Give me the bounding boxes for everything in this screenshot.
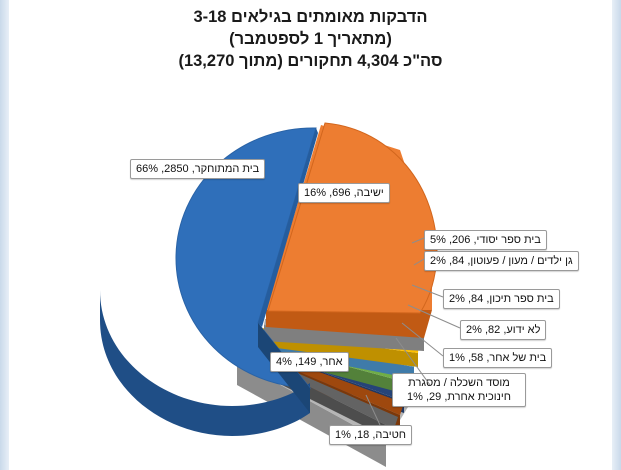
slice-label-yeshiva: ישיבה, 696, 16% bbox=[298, 183, 390, 203]
chart-title: הדבקות מאומתים בגילאים 3-18 (מתאריך 1 לס… bbox=[0, 6, 621, 72]
slice-label-institution: מוסד השכלה / מסגרת חינוכית אחרת, 29, 1% bbox=[392, 373, 526, 407]
chart-title-line-2: (מתאריך 1 לספטמבר) bbox=[0, 28, 621, 50]
slice-label-other: אחר, 149, 4% bbox=[270, 352, 349, 372]
slice-label-unknown: לא ידוע, 82, 2% bbox=[460, 320, 546, 340]
slice-label-highschool: בית ספר תיכון, 84, 2% bbox=[443, 289, 560, 309]
chart-title-line-1: הדבקות מאומתים בגילאים 3-18 bbox=[0, 6, 621, 28]
pie-chart-area: בית המתוחקר, 2850, 66% ישיבה, 696, 16% ב… bbox=[0, 95, 621, 470]
slice-label-main: בית המתוחקר, 2850, 66% bbox=[130, 159, 265, 179]
pie-chart-svg bbox=[0, 95, 621, 470]
slice-label-elementary: בית ספר יסודי, 206, 5% bbox=[424, 230, 547, 250]
slice-label-middleschool: חטיבה, 18, 1% bbox=[329, 425, 412, 445]
slice-label-otherhome: בית של אחר, 58, 1% bbox=[443, 348, 552, 368]
chart-title-line-3: סה"כ 4,304 תחקורים (מתוך 13,270) bbox=[0, 50, 621, 72]
slice-label-kindergarten: גן ילדים / מעון / פעוטון, 84, 2% bbox=[424, 251, 579, 271]
